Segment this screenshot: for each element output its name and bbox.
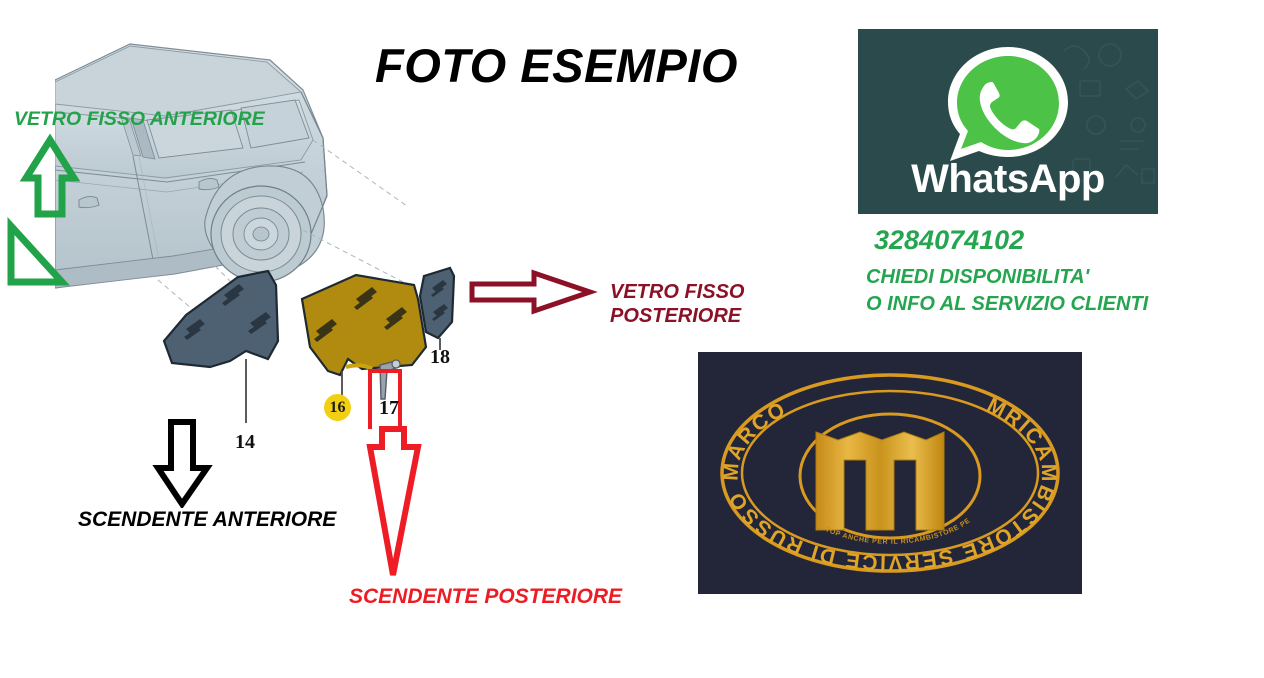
whatsapp-wordmark: WhatsApp bbox=[858, 157, 1158, 202]
page-title: FOTO ESEMPIO bbox=[375, 38, 738, 93]
label-vetro-fisso-posteriore: VETRO FISSO POSTERIORE bbox=[610, 281, 744, 328]
glass-part-14 bbox=[164, 271, 278, 367]
whatsapp-cta-text: CHIEDI DISPONIBILITA' O INFO AL SERVIZIO… bbox=[866, 264, 1148, 318]
glass-part-18 bbox=[408, 262, 468, 352]
up-arrow-green-icon bbox=[4, 132, 84, 292]
part-number-14: 14 bbox=[235, 431, 255, 454]
label-vetro-fisso-posteriore-line2: POSTERIORE bbox=[610, 305, 744, 329]
part-number-18: 18 bbox=[430, 346, 450, 369]
label-scendente-anteriore: SCENDENTE ANTERIORE bbox=[78, 508, 336, 532]
whatsapp-phone-number[interactable]: 3284074102 bbox=[874, 225, 1024, 256]
screenshot-canvas: 14 16 17 18 FOTO ESEMPIO VETRO FISSO ANT… bbox=[0, 0, 1264, 678]
part-number-17: 17 bbox=[379, 397, 399, 420]
whatsapp-banner[interactable]: WhatsApp bbox=[858, 29, 1158, 214]
right-arrow-darkred-icon bbox=[468, 268, 598, 316]
down-arrow-red-icon bbox=[360, 425, 432, 585]
whatsapp-cta-line2: O INFO AL SERVIZIO CLIENTI bbox=[866, 291, 1148, 318]
label-vetro-fisso-posteriore-line1: VETRO FISSO bbox=[610, 281, 744, 305]
shop-logo-icon: MRICAMBISTORE SERVICE DI RUSSO MARCO IL … bbox=[698, 352, 1082, 594]
label-vetro-fisso-anteriore: VETRO FISSO ANTERIORE bbox=[14, 108, 265, 131]
shop-logo-banner: MRICAMBISTORE SERVICE DI RUSSO MARCO IL … bbox=[698, 352, 1082, 594]
down-arrow-black-icon bbox=[152, 418, 216, 508]
part-number-badge-16: 16 bbox=[324, 394, 351, 421]
label-scendente-posteriore: SCENDENTE POSTERIORE bbox=[349, 585, 622, 609]
whatsapp-cta-line1: CHIEDI DISPONIBILITA' bbox=[866, 264, 1148, 291]
